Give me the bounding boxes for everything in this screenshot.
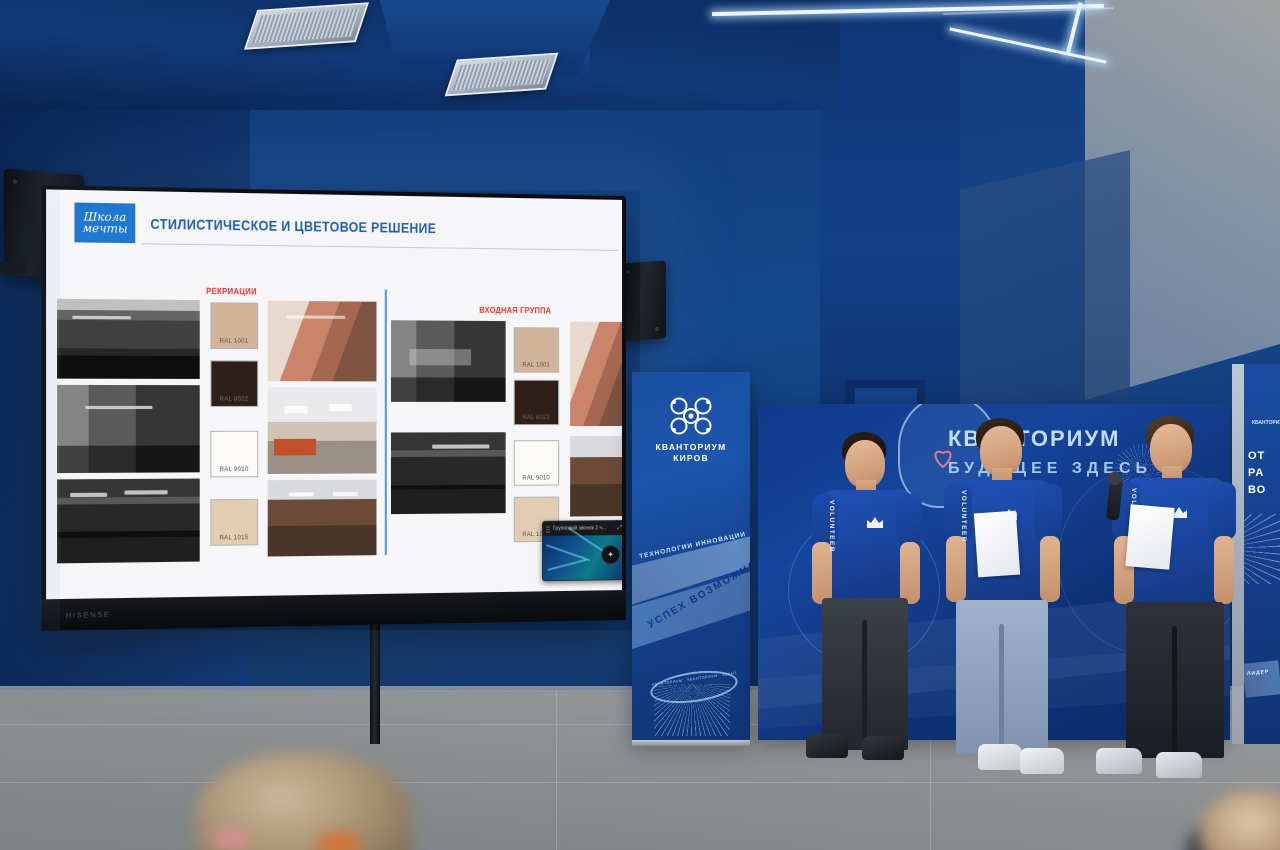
arm-right xyxy=(900,542,920,604)
edge-banner: КВАНТОРИУМ ОТ РА ВО ЛИДЕР xyxy=(1244,364,1280,744)
edge-banner-brand: КВАНТОРИУМ xyxy=(1252,420,1280,426)
rollup-rays xyxy=(654,684,730,736)
color-swatch: RAL 9010 xyxy=(210,431,258,478)
slide-title: СТИЛИСТИЧЕСКОЕ И ЦВЕТОВОЕ РЕШЕНИЕ xyxy=(150,216,436,236)
color-swatch: RAL 8022 xyxy=(514,380,559,425)
speaker-mount xyxy=(0,262,26,274)
expand-icon[interactable]: ⤢ xyxy=(617,525,622,531)
ceiling-edge-line xyxy=(943,7,1116,115)
audience-detail xyxy=(318,834,360,850)
slide-canvas: Школа мечты СТИЛИСТИЧЕСКОЕ И ЦВЕТОВОЕ РЕ… xyxy=(46,189,622,599)
call-widget-title: Групповой звонок 2 ч... xyxy=(553,525,614,532)
header-divider xyxy=(142,243,618,251)
logo-line-2: мечты xyxy=(82,222,127,235)
edge-banner-headline: ОТ РА ВО xyxy=(1248,448,1266,499)
color-swatch: RAL 9010 xyxy=(514,440,559,486)
presentation-display[interactable]: Школа мечты СТИЛИСТИЧЕСКОЕ И ЦВЕТОВОЕ РЕ… xyxy=(42,185,626,631)
rollup-banner-kvantorium: КВАНТОРИУМ КИРОВ ТЕХНОЛОГИИ ИННОВАЦИИ УС… xyxy=(632,372,750,740)
color-swatch: RAL 8022 xyxy=(210,360,258,407)
photo-render-entrance-2 xyxy=(570,436,622,517)
shoe-left xyxy=(978,744,1022,770)
photo-corridor-bw-2 xyxy=(57,385,200,473)
sleeve-left xyxy=(944,484,972,540)
audience-detail xyxy=(214,830,248,848)
section-label-entrance-group: ВХОДНАЯ ГРУППА xyxy=(479,305,551,316)
kvantorium-logo-icon xyxy=(665,394,717,438)
jeans-gap xyxy=(999,624,1004,750)
shoe-left xyxy=(806,734,848,758)
slide-header: Школа мечты СТИЛИСТИЧЕСКОЕ И ЦВЕТОВОЕ РЕ… xyxy=(46,189,622,262)
section-label-recreation: РЕКРИАЦИИ xyxy=(206,286,257,297)
wall-speaker-right xyxy=(620,260,666,341)
photo-corridor-bw-3 xyxy=(57,479,200,564)
display-brand-label: HISENSE xyxy=(66,612,111,620)
presentation-papers xyxy=(974,511,1020,578)
presentation-scene: Школа мечты СТИЛИСТИЧЕСКОЕ И ЦВЕТОВОЕ РЕ… xyxy=(0,0,1280,850)
arm-left xyxy=(946,536,966,602)
shoe-right xyxy=(1156,752,1202,778)
photo-render-corridor-1 xyxy=(268,301,377,382)
rollup-banner-base xyxy=(632,740,750,746)
shoe-right xyxy=(862,736,904,760)
photo-entrance-bw-1 xyxy=(391,320,506,402)
sleeve-right xyxy=(896,494,922,546)
color-swatch: RAL 1001 xyxy=(514,327,559,373)
photo-render-entrance-1 xyxy=(570,322,622,427)
crown-emblem-icon xyxy=(864,512,886,532)
color-swatch: RAL 1015 xyxy=(210,499,258,546)
trouser-gap xyxy=(862,620,867,746)
school-of-dreams-logo: Школа мечты xyxy=(75,203,136,244)
backdrop-title: КВАНТОРИУМ xyxy=(948,426,1121,452)
arm-right xyxy=(1214,536,1234,604)
display-screen[interactable]: Школа мечты СТИЛИСТИЧЕСКОЕ И ЦВЕТОВОЕ РЕ… xyxy=(46,189,622,599)
tshirt-volunteer-text: VOLUNTEER xyxy=(960,490,967,543)
call-widget-titlebar[interactable]: Групповой звонок 2 ч... ⤢ xyxy=(543,521,622,536)
edge-banner-ribbon xyxy=(1244,660,1280,698)
microphone-head-icon xyxy=(1107,472,1122,485)
drag-handle-icon[interactable] xyxy=(546,525,550,532)
shoe-right xyxy=(1020,748,1064,774)
photo-entrance-bw-2 xyxy=(391,432,506,514)
photo-render-lobby xyxy=(268,387,377,474)
display-stand-pole xyxy=(370,616,380,744)
presentation-papers xyxy=(1125,504,1174,570)
slide-column-divider xyxy=(385,290,387,556)
rollup-title: КВАНТОРИУМ КИРОВ xyxy=(632,442,750,464)
edge-banner-rays xyxy=(1244,514,1280,584)
arm-right xyxy=(1040,536,1060,602)
tshirt-chest-logo xyxy=(862,512,888,534)
color-swatch: RAL 1001 xyxy=(210,302,258,349)
photo-corridor-bw-1 xyxy=(57,299,200,379)
trouser-gap xyxy=(1172,626,1177,754)
photo-render-corridor-2 xyxy=(268,480,377,557)
shoe-left xyxy=(1096,748,1142,774)
sleeve-right xyxy=(1034,484,1062,540)
group-call-widget[interactable]: Групповой звонок 2 ч... ⤢ ✦ xyxy=(542,520,622,581)
sleeve-right xyxy=(1208,482,1236,540)
tshirt-volunteer-text: VOLUNTEER xyxy=(828,500,835,553)
